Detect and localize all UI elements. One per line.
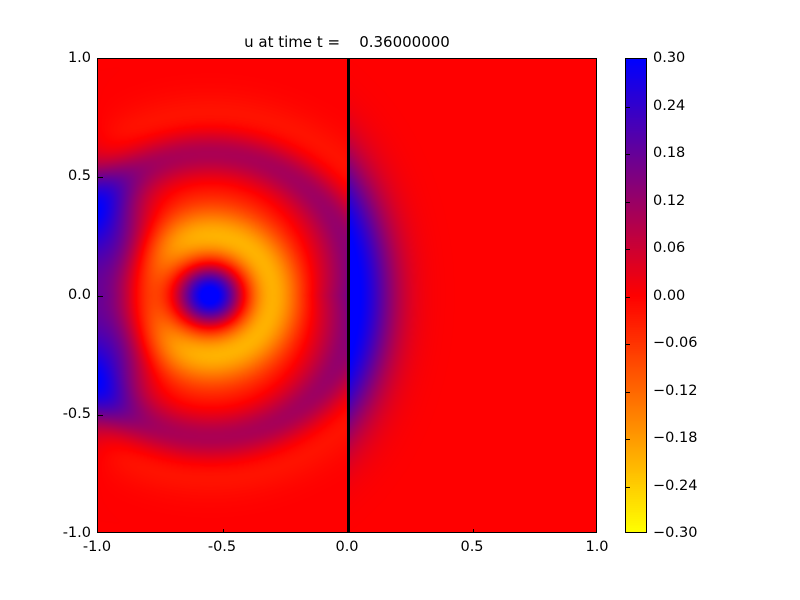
x-tick-label-2: -0.5 [187,540,257,554]
colorbar-label-3: 0.18 [653,146,733,160]
x-tick-label-1: -1.0 [62,540,132,554]
colorbar-tick-0.12 [626,202,630,203]
heatmap-plot-area [97,58,597,533]
colorbar-tick-0.18 [626,154,630,155]
x-tick-mark--0.5 [223,529,224,533]
colorbar-label-5: 0.06 [653,241,733,255]
colorbar-tick-0.00 [626,297,630,298]
colorbar-label-8: −0.12 [653,384,733,398]
colorbar-tick--0.06 [626,344,630,345]
figure-canvas: u at time t = 0.36000000 1.0 0.5 0.0 -0.… [0,0,800,600]
colorbar-label-9: −0.18 [653,431,733,445]
colorbar-label-1: 0.30 [653,51,733,65]
colorbar-tick-0.24 [626,107,630,108]
colorbar-label-11: −0.30 [653,526,733,540]
colorbar-label-2: 0.24 [653,99,733,113]
colorbar-label-6: 0.00 [653,289,733,303]
x-tick-label-3: 0.0 [312,540,382,554]
colorbar-tick-0.06 [626,249,630,250]
colorbar-label-10: −0.24 [653,479,733,493]
x-tick-mark-0.5 [473,529,474,533]
colorbar-label-7: −0.06 [653,336,733,350]
y-tick-label-1: 1.0 [31,51,91,65]
x-tick-label-5: 1.0 [562,540,632,554]
colorbar-tick--0.12 [626,392,630,393]
x-tick-label-4: 0.5 [437,540,507,554]
colorbar-tick--0.24 [626,487,630,488]
colorbar-tick--0.18 [626,439,630,440]
interface-line-x0 [347,59,350,532]
colorbar [625,58,647,533]
colorbar-label-4: 0.12 [653,194,733,208]
colorbar-gradient [626,59,646,532]
y-tick-label-3: 0.0 [31,288,91,302]
y-tick-mark--0.5 [98,415,103,416]
y-tick-label-2: 0.5 [31,169,91,183]
y-tick-mark-0.5 [98,177,103,178]
y-tick-label-5: -1.0 [31,526,91,540]
page-title: u at time t = 0.36000000 [97,33,597,51]
y-tick-mark-0.0 [98,296,103,297]
y-tick-label-4: -0.5 [31,407,91,421]
